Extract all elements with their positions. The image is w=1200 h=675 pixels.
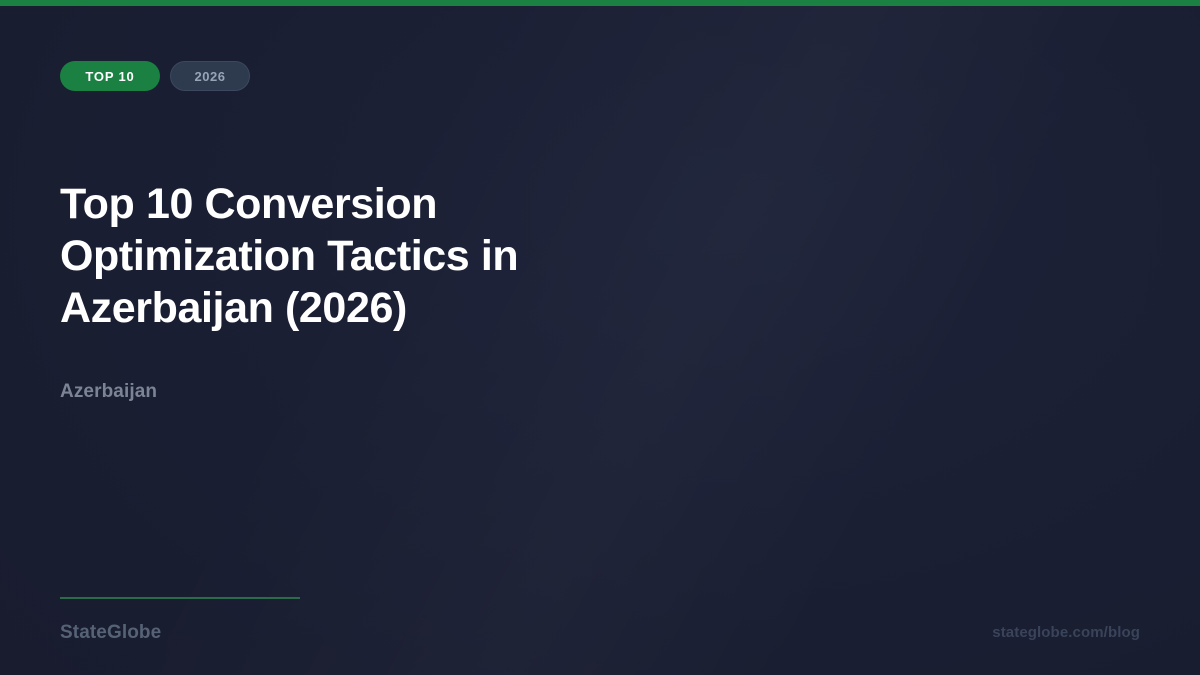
top-accent-bar <box>0 0 1200 6</box>
brand-name: StateGlobe <box>60 622 161 644</box>
badge-row: TOP 10 2026 <box>60 61 250 91</box>
subtitle-region: Azerbaijan <box>60 381 157 403</box>
badge-year-2026[interactable]: 2026 <box>170 61 250 91</box>
page-title: Top 10 Conversion Optimization Tactics i… <box>60 178 680 334</box>
site-url[interactable]: stateglobe.com/blog <box>992 624 1140 641</box>
badge-top-10[interactable]: TOP 10 <box>60 61 160 91</box>
footer-divider <box>60 597 300 599</box>
social-share-card: TOP 10 2026 Top 10 Conversion Optimizati… <box>0 0 1200 675</box>
